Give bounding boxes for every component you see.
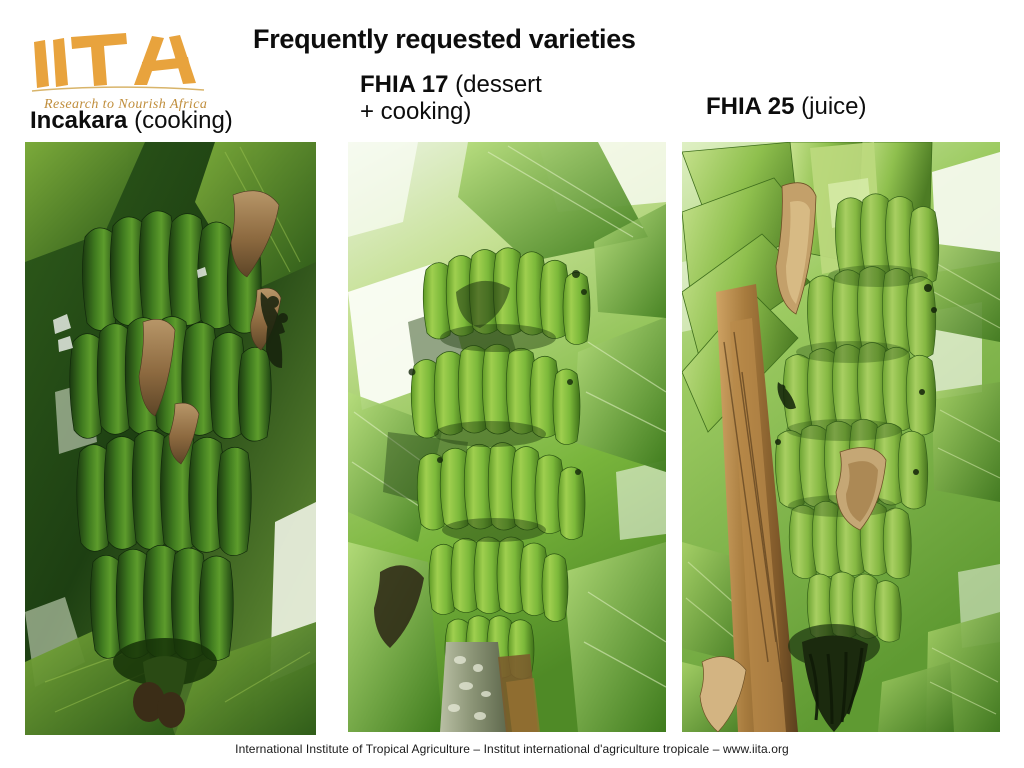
caption-fhia17: FHIA 17 (dessert + cooking) <box>360 72 630 126</box>
fhia25-photo-canvas <box>682 142 1000 732</box>
variety-name-incakara: Incakara <box>30 107 127 134</box>
incakara-photo-canvas <box>25 142 316 735</box>
fhia17-photo-canvas <box>348 142 666 732</box>
fhia25-banana-photo <box>682 142 1000 732</box>
caption-fhia25: FHIA 25 (juice) <box>706 94 866 121</box>
slide-canvas: Research to Nourish Africa Frequently re… <box>0 0 1024 768</box>
variety-use-fhia25: (juice) <box>801 93 866 120</box>
footer-text: International Institute of Tropical Agri… <box>0 742 1024 756</box>
incakara-banana-photo <box>25 142 316 735</box>
fhia17-banana-photo <box>348 142 666 732</box>
variety-name-fhia25: FHIA 25 <box>706 93 794 120</box>
iita-logo: Research to Nourish Africa <box>28 28 218 114</box>
variety-use-fhia17-line1: (dessert <box>455 71 542 98</box>
variety-use-fhia17-line2: + cooking) <box>360 98 471 125</box>
variety-use-incakara: (cooking) <box>134 107 233 134</box>
caption-incakara: Incakara (cooking) <box>30 108 233 135</box>
variety-name-fhia17: FHIA 17 <box>360 71 448 98</box>
page-title: Frequently requested varieties <box>253 24 636 55</box>
